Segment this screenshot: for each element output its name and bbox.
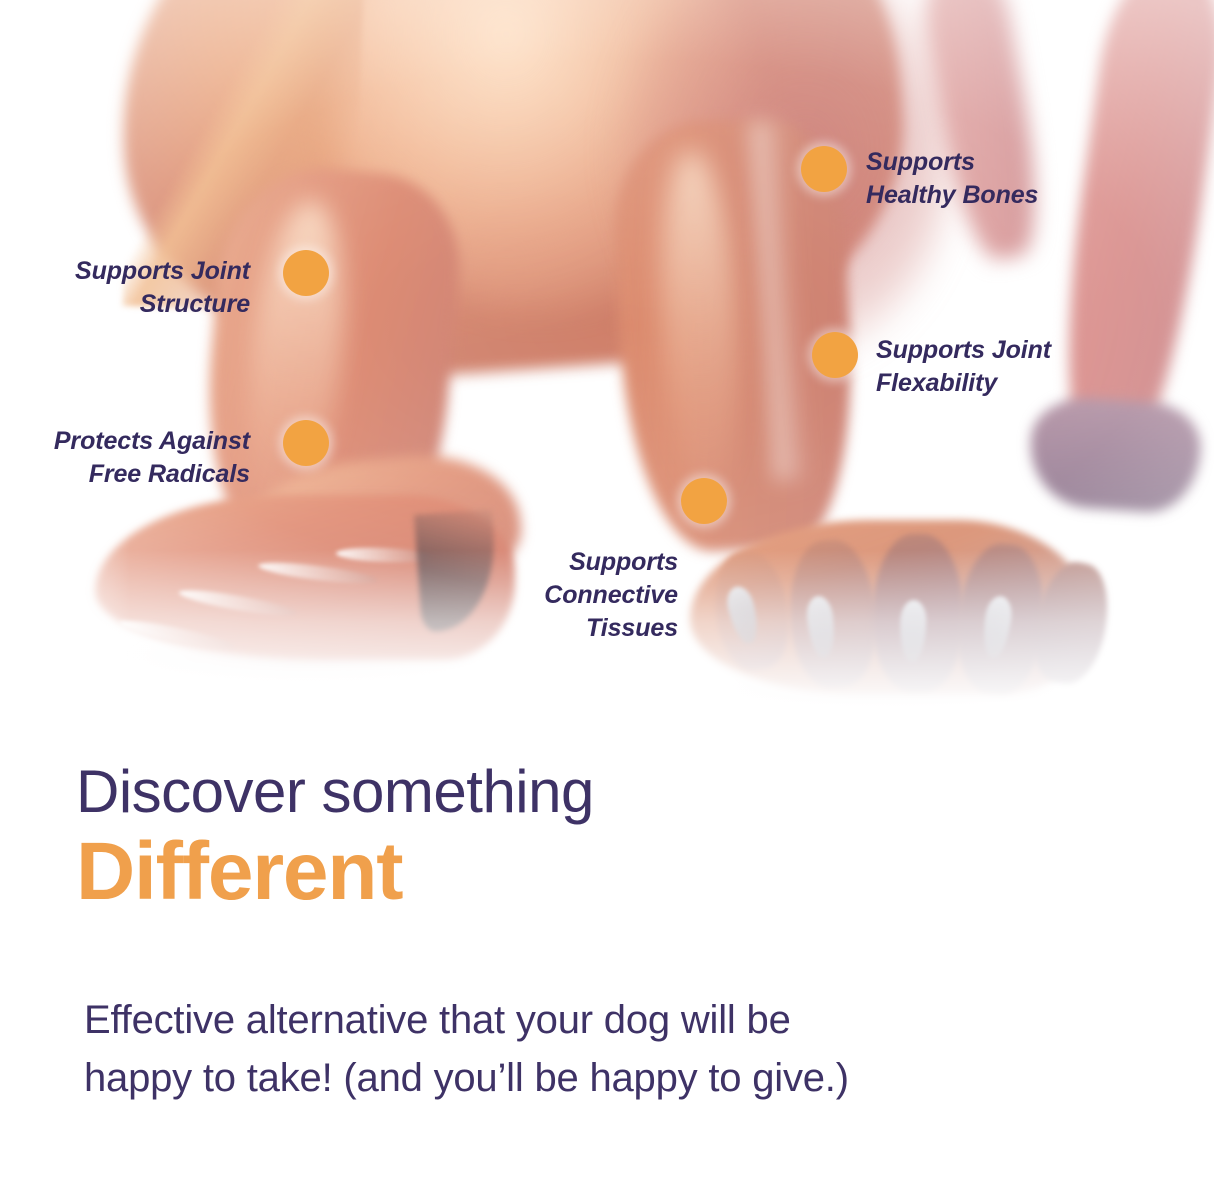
bullet-dot-free-radicals xyxy=(283,420,329,466)
promo-page: Supports Joint Structure Protects Agains… xyxy=(0,0,1214,1201)
callout-label-connective-tissues: Supports Connective Tissues xyxy=(438,546,678,645)
callout-label-joint-structure: Supports Joint Structure xyxy=(0,255,250,321)
photo-left-fade xyxy=(0,0,130,740)
callout-label-healthy-bones: Supports Healthy Bones xyxy=(866,146,1166,212)
bullet-dot-joint-flexability xyxy=(812,332,858,378)
bullet-dot-joint-structure xyxy=(283,250,329,296)
page-headline: Discover something Different xyxy=(0,760,1214,917)
bullet-dot-healthy-bones xyxy=(801,146,847,192)
headline-line-discover-something: Discover something xyxy=(76,760,1214,824)
callout-label-free-radicals: Protects Against Free Radicals xyxy=(0,425,250,491)
dog-rear-paw xyxy=(1026,394,1203,516)
headline-line-different: Different xyxy=(76,826,1214,918)
bullet-dot-connective-tissues xyxy=(681,478,727,524)
hero-dog-photo: Supports Joint Structure Protects Agains… xyxy=(0,0,1214,740)
body-paragraph: Effective alternative that your dog will… xyxy=(0,917,1214,1107)
callout-label-joint-flexability: Supports Joint Flexability xyxy=(876,334,1176,400)
copy-block: Discover something Different Effective a… xyxy=(0,760,1214,1107)
